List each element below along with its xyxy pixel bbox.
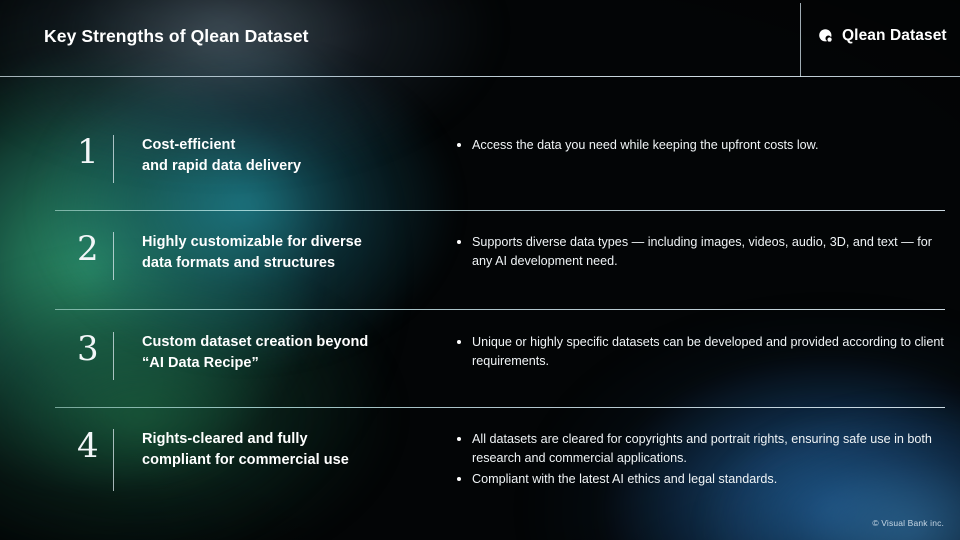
item-bullet: Supports diverse data types — including … [450,233,945,271]
item-heading-line: data formats and structures [142,253,442,274]
item-heading-line: Cost-efficient [142,135,442,156]
item-bullet: All datasets are cleared for copyrights … [450,430,945,468]
item-bullet-list: All datasets are cleared for copyrights … [442,430,945,491]
item-heading-line: Highly customizable for diverse [142,232,442,253]
header-vertical-divider [800,3,801,77]
item-heading-line: and rapid data delivery [142,156,442,177]
item-number: 3 [55,332,113,366]
item-heading-line: compliant for commercial use [142,450,442,471]
slide-header: Key Strengths of Qlean Dataset Qlean Dat… [0,0,960,77]
item-heading: Highly customizable for diverse data for… [142,232,442,275]
item-number: 1 [55,135,113,169]
item-number: 4 [55,429,113,463]
page-title: Key Strengths of Qlean Dataset [44,26,309,47]
slide-root: Key Strengths of Qlean Dataset Qlean Dat… [0,0,960,540]
item-heading-line: Custom dataset creation beyond [142,332,442,353]
item-heading-line: Rights-cleared and fully [142,429,442,450]
item-bullet: Compliant with the latest AI ethics and … [450,470,945,489]
list-divider [55,407,945,408]
list-item: 1 Cost-efficient and rapid data delivery… [55,135,945,183]
item-bullet-list: Unique or highly specific datasets can b… [442,333,945,373]
list-item: 2 Highly customizable for diverse data f… [55,232,945,280]
item-accent-bar [113,429,114,491]
item-bullet: Unique or highly specific datasets can b… [450,333,945,371]
copyright-credit: © Visual Bank inc. [872,518,944,528]
list-item: 4 Rights-cleared and fully compliant for… [55,429,945,491]
item-number: 2 [55,232,113,266]
item-bullet: Access the data you need while keeping t… [450,136,945,155]
qlean-circle-icon [818,28,835,45]
item-accent-bar [113,332,114,380]
list-divider [55,210,945,211]
item-heading: Cost-efficient and rapid data delivery [142,135,442,178]
list-item: 3 Custom dataset creation beyond “AI Dat… [55,332,945,380]
item-heading: Custom dataset creation beyond “AI Data … [142,332,442,375]
item-accent-bar [113,135,114,183]
item-accent-bar [113,232,114,280]
item-bullet-list: Supports diverse data types — including … [442,233,945,273]
brand-logo: Qlean Dataset [818,27,947,45]
brand-logo-text: Qlean Dataset [842,27,947,45]
list-divider [55,309,945,310]
item-heading-line: “AI Data Recipe” [142,353,442,374]
header-divider [0,76,960,77]
item-bullet-list: Access the data you need while keeping t… [442,136,945,157]
item-heading: Rights-cleared and fully compliant for c… [142,429,442,472]
strengths-list: 1 Cost-efficient and rapid data delivery… [0,77,960,540]
